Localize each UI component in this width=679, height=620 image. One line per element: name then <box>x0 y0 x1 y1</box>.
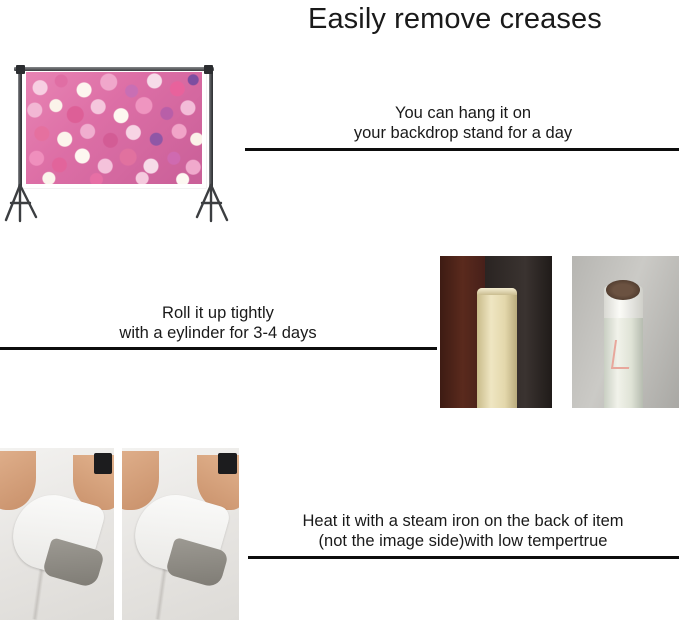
floral-backdrop-on-stand-photo <box>0 45 240 235</box>
caption-hang-line-2: your backdrop stand for a day <box>253 124 673 144</box>
tube-opening <box>606 280 640 299</box>
caption-roll: Roll it up tightly with a eylinder for 3… <box>8 304 428 343</box>
rolled-backdrop-tube-dark-photo <box>440 256 552 408</box>
caption-roll-line-2: with a eylinder for 3-4 days <box>8 324 428 344</box>
caption-iron-line-1: Heat it with a steam iron on the back of… <box>252 512 674 532</box>
page-title: Easily remove creases <box>308 2 674 36</box>
stand-tripod-legs <box>0 45 240 235</box>
wristwatch-2 <box>218 453 237 474</box>
divider-rule-roll <box>0 347 437 350</box>
divider-rule-iron <box>248 556 679 559</box>
cardboard-cylinder-tube-photo <box>572 256 679 408</box>
caption-roll-line-1: Roll it up tightly <box>8 304 428 324</box>
caption-hang: You can hang it on your backdrop stand f… <box>253 104 673 143</box>
cardboard-tube <box>604 286 643 408</box>
divider-rule-hang <box>245 148 679 151</box>
wristwatch-1 <box>94 453 112 474</box>
steam-iron-on-fabric-photo-2 <box>122 448 239 620</box>
steam-iron-on-fabric-photo-1 <box>0 448 114 620</box>
caption-iron: Heat it with a steam iron on the back of… <box>252 512 674 551</box>
caption-iron-line-2: (not the image side)with low tempertrue <box>252 532 674 552</box>
caption-hang-line-1: You can hang it on <box>253 104 673 124</box>
backdrop-stand-illustration <box>0 45 240 235</box>
rolled-beige-tube <box>477 288 517 408</box>
tube-pink-marking <box>611 340 633 369</box>
instruction-infographic: Easily remove creases <box>0 0 679 620</box>
